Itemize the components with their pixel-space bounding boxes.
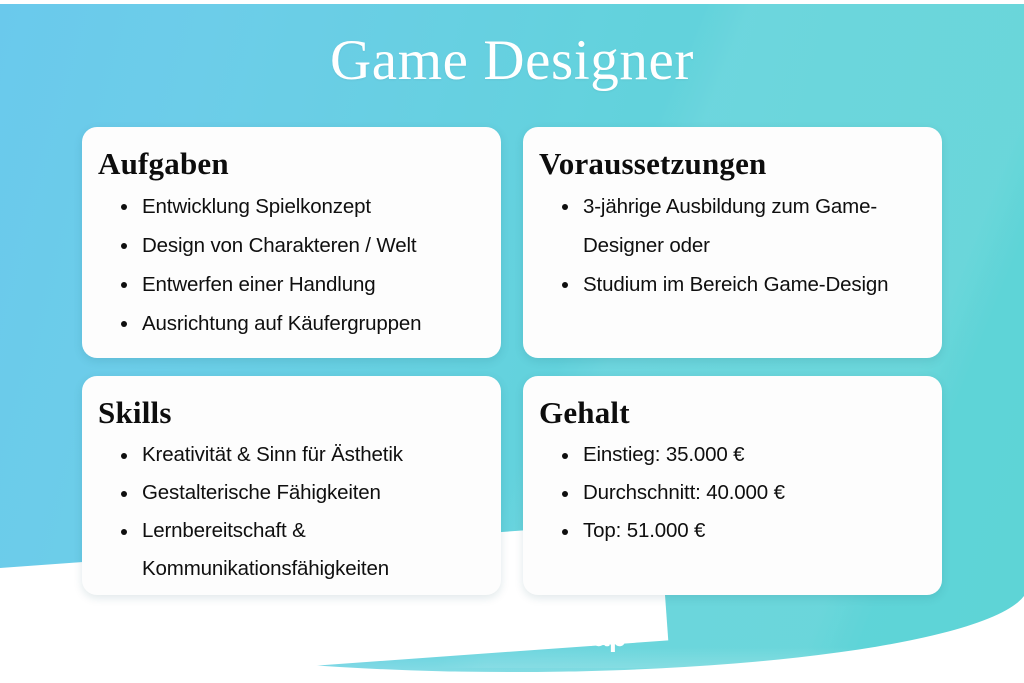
logo-word-freelancer: freelancer bbox=[443, 621, 568, 653]
freelancermap-aperture-icon bbox=[398, 619, 434, 655]
page-title: Game Designer bbox=[0, 26, 1024, 96]
card-skills: Skills Kreativität & Sinn für Ästhetik G… bbox=[82, 376, 501, 595]
list-item: Ausrichtung auf Käufergruppen bbox=[142, 304, 481, 343]
list-item: Kreativität & Sinn für Ästhetik bbox=[142, 436, 481, 474]
logo-word-map: map bbox=[568, 621, 626, 653]
list-item: Einstieg: 35.000 € bbox=[583, 436, 922, 474]
list-item: Gestalterische Fähigkeiten bbox=[142, 474, 481, 512]
card-heading-voraussetzungen: Voraussetzungen bbox=[539, 145, 922, 183]
list-item: Entwicklung Spielkonzept bbox=[142, 187, 481, 226]
list-item: Studium im Bereich Game-Design bbox=[583, 265, 922, 304]
list-item: Lernbereitschaft & Kommunikationsfähigke… bbox=[142, 512, 481, 588]
card-heading-skills: Skills bbox=[98, 394, 481, 432]
list-item: Design von Charakteren / Welt bbox=[142, 226, 481, 265]
card-list-voraussetzungen: 3-jährige Ausbildung zum Game-Designer o… bbox=[539, 187, 922, 304]
infographic-canvas: Game Designer Aufgaben Entwicklung Spiel… bbox=[0, 0, 1024, 683]
list-item: Entwerfen einer Handlung bbox=[142, 265, 481, 304]
card-list-skills: Kreativität & Sinn für Ästhetik Gestalte… bbox=[98, 436, 481, 588]
card-heading-aufgaben: Aufgaben bbox=[98, 145, 481, 183]
card-voraussetzungen: Voraussetzungen 3-jährige Ausbildung zum… bbox=[523, 127, 942, 358]
footer-logo: freelancermap bbox=[0, 619, 1024, 655]
card-list-gehalt: Einstieg: 35.000 € Durchschnitt: 40.000 … bbox=[539, 436, 922, 550]
logo-wordmark: freelancermap bbox=[443, 620, 626, 654]
card-gehalt: Gehalt Einstieg: 35.000 € Durchschnitt: … bbox=[523, 376, 942, 595]
list-item: 3-jährige Ausbildung zum Game-Designer o… bbox=[583, 187, 922, 265]
card-list-aufgaben: Entwicklung Spielkonzept Design von Char… bbox=[98, 187, 481, 343]
list-item: Top: 51.000 € bbox=[583, 512, 922, 550]
list-item: Durchschnitt: 40.000 € bbox=[583, 474, 922, 512]
card-aufgaben: Aufgaben Entwicklung Spielkonzept Design… bbox=[82, 127, 501, 358]
card-heading-gehalt: Gehalt bbox=[539, 394, 922, 432]
card-grid: Aufgaben Entwicklung Spielkonzept Design… bbox=[82, 127, 942, 595]
